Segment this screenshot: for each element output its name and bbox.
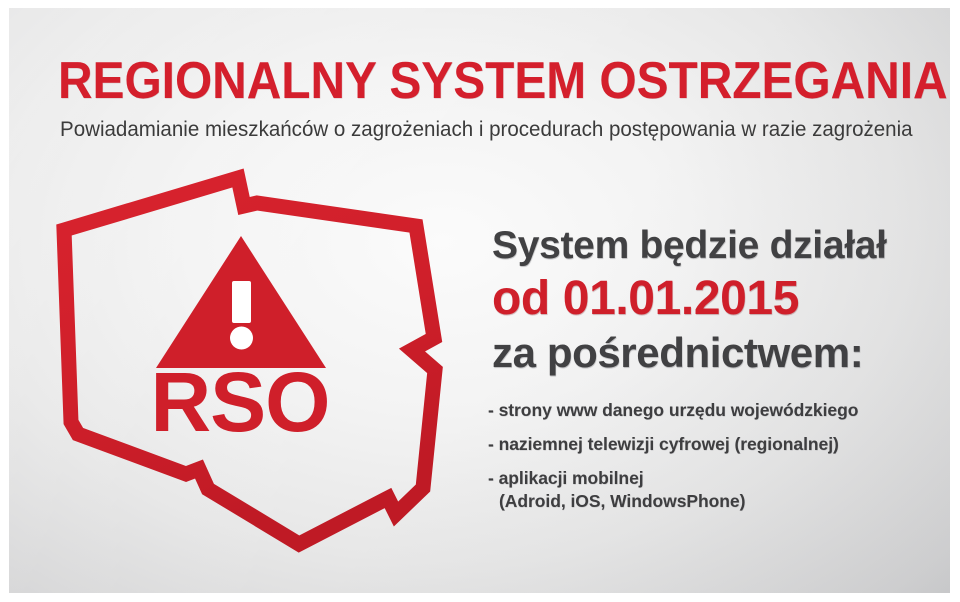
channel-text: - strony www danego urzędu wojewódzkiego [488,400,858,420]
list-item: - strony www danego urzędu wojewódzkiego [488,400,938,421]
channel-text: - naziemnej telewizji cyfrowej (regional… [488,434,839,454]
announcement-line-1: System będzie działał [492,224,887,268]
channel-text: - aplikacji mobilnej [488,468,644,488]
channel-text-continuation: (Adroid, iOS, WindowsPhone) [488,491,938,512]
list-item: - aplikacji mobilnej (Adroid, iOS, Windo… [488,468,938,512]
rso-logo: RSO [44,158,464,578]
page-title: REGIONALNY SYSTEM OSTRZEGANIA [58,53,849,109]
announcement-date: od 01.01.2015 [492,272,799,326]
list-item: - naziemnej telewizji cyfrowej (regional… [488,434,938,455]
rso-acronym: RSO [150,355,329,449]
poster-root: REGIONALNY SYSTEM OSTRZEGANIA Powiadamia… [0,0,960,602]
page-subtitle: Powiadamianie mieszkańców o zagrożeniach… [60,116,900,142]
announcement-line-3: za pośrednictwem: [492,329,863,377]
warning-triangle-icon [156,236,326,368]
channels-list: - strony www danego urzędu wojewódzkiego… [488,400,938,512]
